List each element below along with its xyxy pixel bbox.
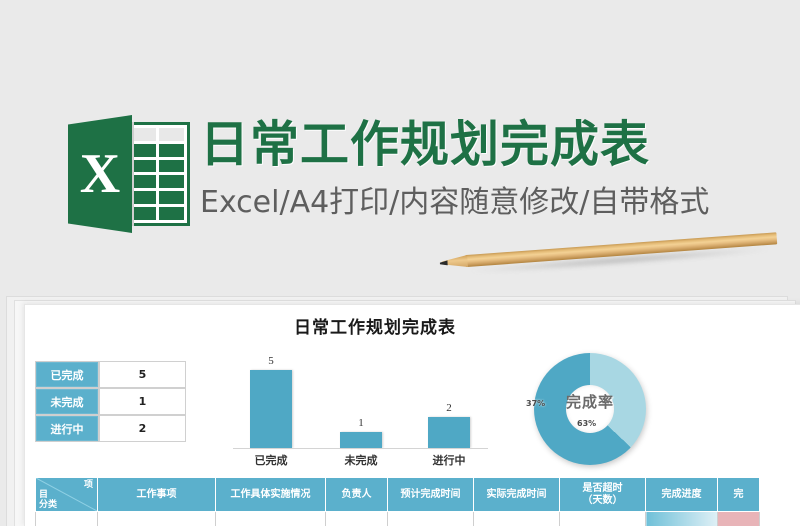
- table-header-task: 工作事项: [98, 478, 216, 512]
- bar-incomplete: [340, 432, 382, 448]
- banner-title: 日常工作规划完成表: [200, 117, 650, 173]
- table-header-progress: 完成进度: [646, 478, 718, 512]
- bar-category-label: 未完成: [327, 452, 395, 468]
- table-row: [36, 512, 760, 526]
- cell-owner: [326, 512, 388, 526]
- cell-rate: [718, 512, 760, 526]
- overtime-line1: 是否超时: [562, 483, 643, 495]
- summary-value-inprogress: 2: [99, 415, 186, 442]
- work-plan-table: 项 目 分类 工作事项 工作具体实施情况 负责人 预计完成时间 实际完成时间 是…: [35, 477, 760, 526]
- bar-category-label: 已完成: [237, 452, 305, 468]
- excel-logo-letter: X: [68, 115, 132, 233]
- cell-actual-date: [474, 512, 560, 526]
- sheet-title: 日常工作规划完成表: [25, 313, 725, 338]
- spreadsheet-preview: 日常工作规划完成表 已完成 5 未完成 1 进行中 2 5 已完成: [24, 304, 800, 526]
- donut-chart: 完成率 37% 63%: [520, 347, 650, 472]
- bar-completed: [250, 370, 292, 448]
- bar-chart-plot: 5 已完成 1 未完成 2 进行中: [225, 348, 495, 448]
- corner-label-line3: 分类: [39, 499, 57, 511]
- cell-task: [98, 512, 216, 526]
- summary-value-incomplete: 1: [99, 388, 186, 415]
- bar-group-completed: 5 已完成: [237, 348, 305, 448]
- cell-progress: [646, 512, 718, 526]
- table-row: 进行中 2: [35, 415, 186, 442]
- table-header-owner: 负责人: [326, 478, 388, 512]
- summary-table: 已完成 5 未完成 1 进行中 2: [35, 361, 186, 442]
- bar-value-label: 5: [237, 355, 305, 367]
- cell-overtime: [560, 512, 646, 526]
- cell-planned-date: [388, 512, 474, 526]
- excel-logo-grid: [130, 128, 184, 220]
- summary-label-completed: 已完成: [35, 361, 99, 388]
- bar-group-incomplete: 1 未完成: [327, 348, 395, 448]
- table-row: 未完成 1: [35, 388, 186, 415]
- table-header-planned-date: 预计完成时间: [388, 478, 474, 512]
- table-header-actual-date: 实际完成时间: [474, 478, 560, 512]
- table-header-rate: 完: [718, 478, 760, 512]
- screenshot-canvas: X 日常工作规划完成表 Excel/A4打印/内容随意修改/自带格式 日常工作规…: [0, 0, 800, 526]
- cell-category: [36, 512, 98, 526]
- summary-value-completed: 5: [99, 361, 186, 388]
- donut-slice-label-37: 37%: [526, 399, 545, 408]
- donut-center-label: 完成率: [550, 391, 630, 412]
- table-header-implementation: 工作具体实施情况: [216, 478, 326, 512]
- table-header-overtime: 是否超时 （天数）: [560, 478, 646, 512]
- header-banner: X 日常工作规划完成表 Excel/A4打印/内容随意修改/自带格式: [0, 55, 800, 185]
- table-header-row: 项 目 分类 工作事项 工作具体实施情况 负责人 预计完成时间 实际完成时间 是…: [36, 478, 760, 512]
- bar-category-label: 进行中: [415, 452, 483, 468]
- table-row: 已完成 5: [35, 361, 186, 388]
- corner-label-line1: 项: [84, 479, 93, 491]
- pencil-illustration: [439, 224, 786, 285]
- bar-inprogress: [428, 417, 470, 448]
- bar-chart: 5 已完成 1 未完成 2 进行中: [225, 345, 495, 470]
- banner-subtitle: Excel/A4打印/内容随意修改/自带格式: [200, 184, 709, 222]
- summary-label-incomplete: 未完成: [35, 388, 99, 415]
- bar-value-label: 2: [415, 402, 483, 414]
- cell-implementation: [216, 512, 326, 526]
- table-header-category: 项 目 分类: [36, 478, 98, 512]
- bar-chart-axis: [233, 448, 488, 449]
- overtime-line2: （天数）: [562, 495, 643, 507]
- excel-logo-icon: X: [68, 112, 190, 234]
- donut-slice-label-63: 63%: [577, 419, 596, 428]
- bar-group-inprogress: 2 进行中: [415, 348, 483, 448]
- summary-label-inprogress: 进行中: [35, 415, 99, 442]
- bar-value-label: 1: [327, 417, 395, 429]
